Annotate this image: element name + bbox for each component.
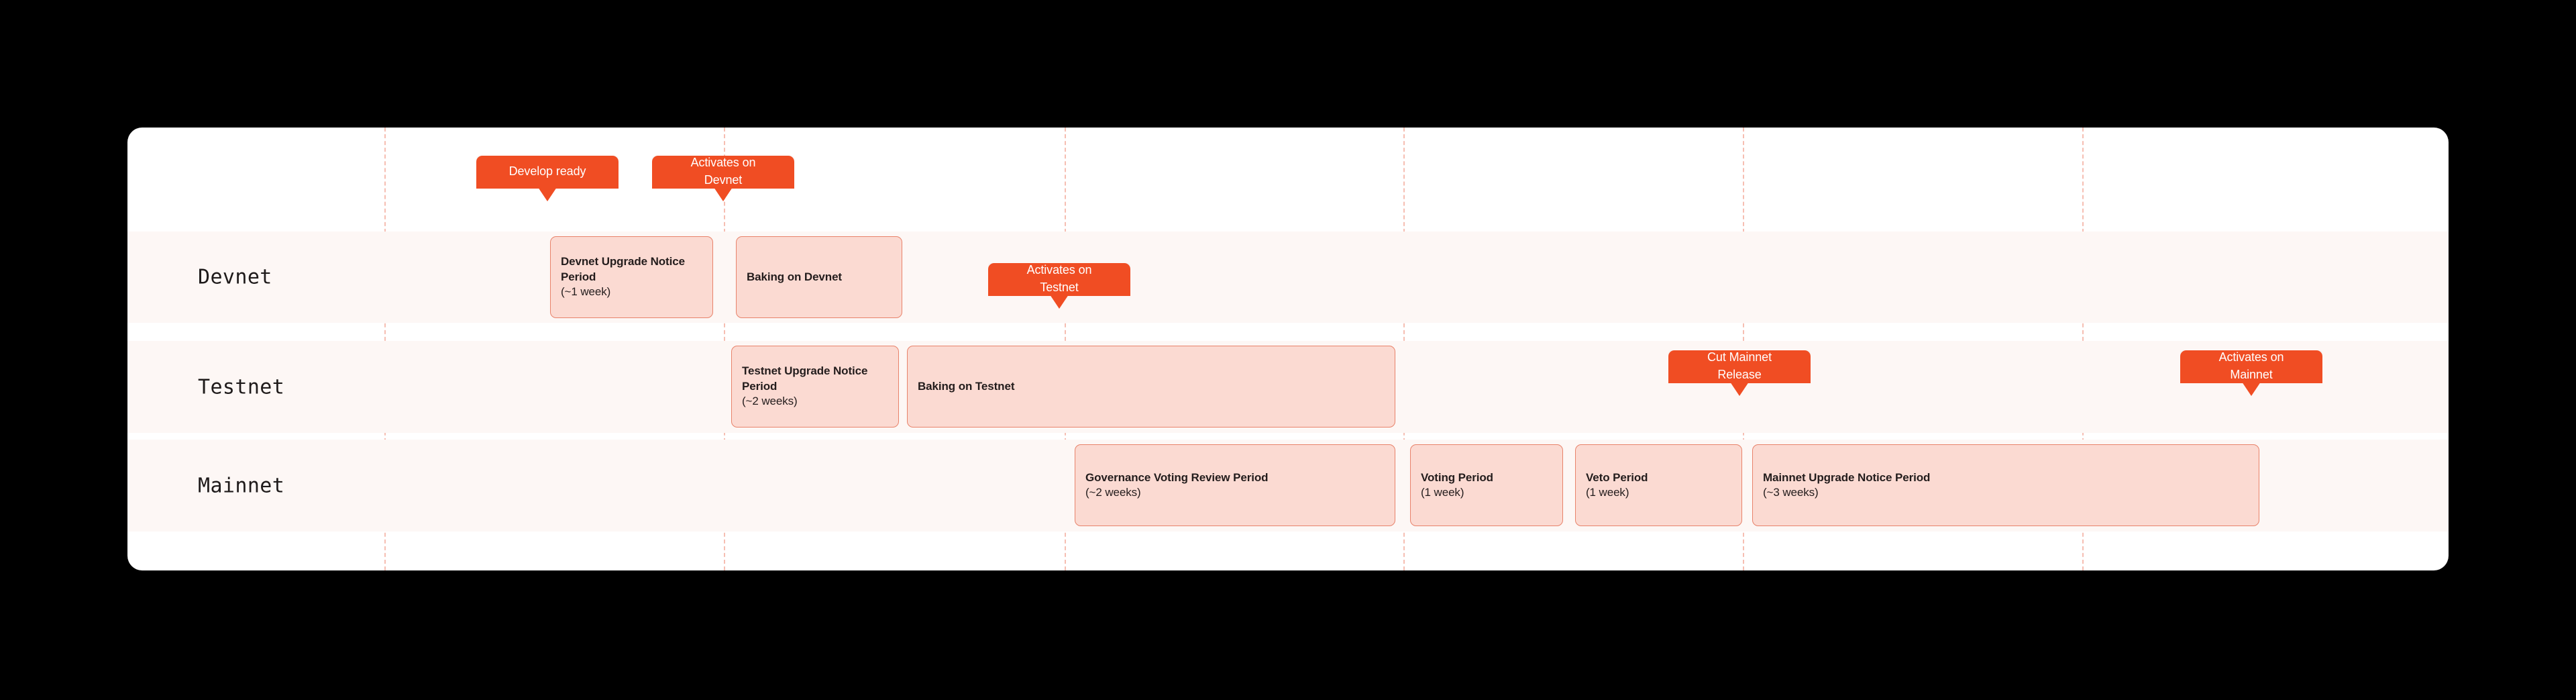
period-title: Devnet Upgrade Notice (561, 254, 702, 269)
period-box-testnet-upgrade-notice-period[interactable]: Testnet Upgrade Notice Period(~2 weeks) (731, 346, 899, 428)
milestone-marker-develop-ready[interactable]: Develop ready (476, 156, 619, 201)
lane-devnet: Devnet (127, 232, 2449, 323)
period-box-devnet-upgrade-notice-period[interactable]: Devnet Upgrade NoticePeriod(~1 week) (550, 236, 713, 318)
period-duration: (~1 week) (561, 285, 702, 299)
period-box-baking-on-devnet[interactable]: Baking on Devnet (736, 236, 902, 318)
milestone-marker-label: Activates on Testnet (1027, 261, 1092, 296)
period-title: Testnet Upgrade Notice Period (742, 364, 888, 394)
period-title-line2: Period (561, 270, 702, 285)
period-box-mainnet-upgrade-notice-period[interactable]: Mainnet Upgrade Notice Period(~3 weeks) (1752, 444, 2259, 526)
period-title: Veto Period (1586, 470, 1731, 485)
milestone-marker-label: Activates on Mainnet (2219, 348, 2284, 383)
period-duration: (~2 weeks) (742, 394, 888, 409)
period-box-voting-period[interactable]: Voting Period(1 week) (1410, 444, 1563, 526)
milestone-marker-label: Activates on Devnet (691, 154, 756, 189)
period-title: Baking on Testnet (918, 379, 1385, 394)
period-box-veto-period[interactable]: Veto Period(1 week) (1575, 444, 1742, 526)
period-box-governance-voting-review-period[interactable]: Governance Voting Review Period(~2 weeks… (1075, 444, 1395, 526)
period-title: Governance Voting Review Period (1085, 470, 1385, 485)
period-title: Baking on Devnet (747, 270, 892, 285)
lane-label-testnet: Testnet (198, 375, 284, 399)
period-title: Voting Period (1421, 470, 1552, 485)
timeline-card: Devnet Testnet Mainnet Devnet Upgrade No… (127, 128, 2449, 570)
period-duration: (1 week) (1421, 485, 1552, 500)
lane-label-devnet: Devnet (198, 266, 272, 289)
period-duration: (~2 weeks) (1085, 485, 1385, 500)
period-duration: (1 week) (1586, 485, 1731, 500)
milestone-marker-activates-on-devnet[interactable]: Activates on Devnet (652, 156, 794, 201)
period-duration: (~3 weeks) (1763, 485, 2249, 500)
period-box-baking-on-testnet[interactable]: Baking on Testnet (907, 346, 1395, 428)
period-title: Mainnet Upgrade Notice Period (1763, 470, 2249, 485)
lane-label-mainnet: Mainnet (198, 474, 284, 497)
milestone-marker-label: Develop ready (509, 162, 586, 180)
milestone-marker-label: Cut Mainnet Release (1707, 348, 1772, 383)
